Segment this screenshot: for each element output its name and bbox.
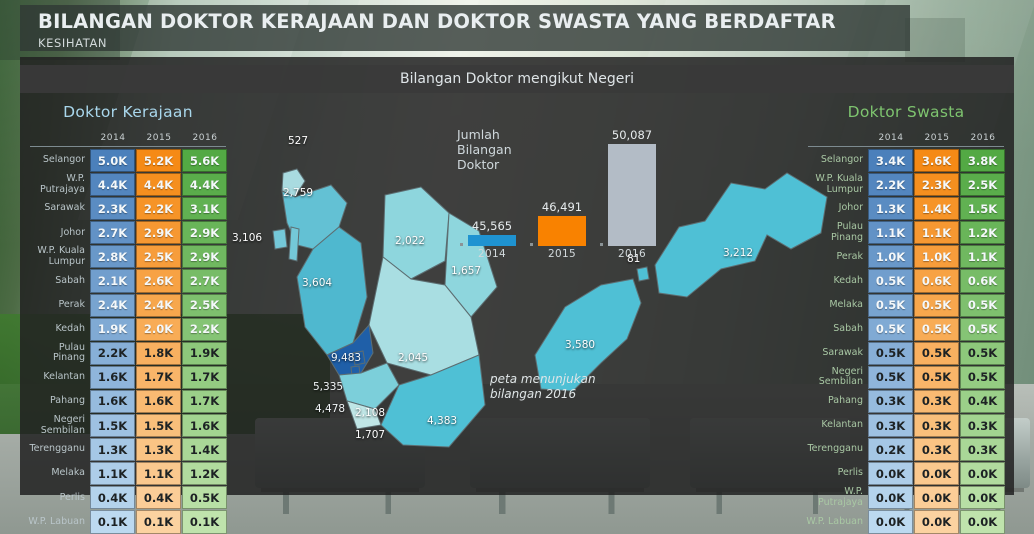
row-state-label: Kelantan	[28, 366, 90, 389]
table-row[interactable]: Melaka1.1K1.1K1.2K	[28, 462, 228, 485]
table-row[interactable]: Pahang1.6K1.6K1.7K	[28, 390, 228, 413]
table-row[interactable]: Perlis0.4K0.4K0.5K	[28, 486, 228, 509]
row-state-label: Perlis	[28, 486, 90, 509]
map-label-sabah: 3,212	[723, 247, 753, 259]
cell-2016[interactable]: 0.0K	[960, 486, 1005, 509]
map-label-perlis: 527	[288, 135, 308, 147]
map-label-wp-putrajaya: 4,478	[315, 403, 345, 415]
cell-2014[interactable]: 0.2K	[868, 438, 913, 461]
cell-2014[interactable]: 5.0K	[90, 149, 135, 172]
cell-2015[interactable]: 1.6K	[136, 390, 181, 413]
cell-2016[interactable]: 4.4K	[182, 173, 227, 196]
header-band: BILANGAN DOKTOR KERAJAAN DAN DOKTOR SWAS…	[20, 5, 910, 51]
cell-2016[interactable]: 2.9K	[182, 221, 227, 244]
map-region-pulau-pinang-strip	[289, 227, 299, 261]
cell-2014[interactable]: 0.5K	[868, 318, 913, 341]
map-label-negeri-sembilan: 2,108	[355, 407, 385, 419]
table-doktor-kerajaan: Doktor Kerajaan 2014 2015 2016 Selangor5…	[28, 103, 228, 534]
map-note: peta menunjukanbilangan 2016	[490, 372, 596, 402]
cell-2015[interactable]: 5.2K	[136, 149, 181, 172]
cell-2016[interactable]: 0.5K	[960, 294, 1005, 317]
cell-2014[interactable]: 2.2K	[90, 342, 135, 365]
bar-2014[interactable]: 45,565	[468, 235, 516, 246]
cell-2015[interactable]: 0.5K	[914, 318, 959, 341]
axis-tick-0	[460, 243, 463, 246]
dashboard-panel: Bilangan Doktor mengikut Negeri Doktor K…	[20, 57, 1014, 495]
cell-2015[interactable]: 2.0K	[136, 318, 181, 341]
table-row[interactable]: Terengganu1.3K1.3K1.4K	[28, 438, 228, 461]
row-state-label: Pulau Pinang	[28, 342, 90, 365]
cell-2016[interactable]: 1.7K	[182, 366, 227, 389]
cell-2016[interactable]: 0.6K	[960, 269, 1005, 292]
cell-2015[interactable]: 0.0K	[914, 462, 959, 485]
cell-2014[interactable]: 2.4K	[90, 294, 135, 317]
row-state-label: Johor	[28, 221, 90, 244]
panel-title: Bilangan Doktor mengikut Negeri	[400, 71, 634, 87]
bar-year-2015: 2015	[538, 248, 586, 260]
axis-tick-1	[530, 243, 533, 246]
cell-2014[interactable]: 2.3K	[90, 197, 135, 220]
table-right-heading: Doktor Swasta	[806, 103, 1006, 121]
map-region-sabah	[655, 173, 827, 297]
cell-2015[interactable]: 0.1K	[136, 510, 181, 533]
axis-tick-2	[600, 243, 603, 246]
row-state-label: W.P. Putrajaya	[806, 486, 868, 509]
cell-2016[interactable]: 1.1K	[960, 245, 1005, 268]
cell-2014[interactable]: 2.8K	[90, 245, 135, 268]
cell-2016[interactable]: 0.5K	[960, 366, 1005, 389]
cell-2014[interactable]: 0.5K	[868, 294, 913, 317]
cell-2015[interactable]: 0.5K	[914, 342, 959, 365]
cell-2015[interactable]: 0.5K	[914, 294, 959, 317]
cell-2015[interactable]: 1.5K	[136, 414, 181, 437]
bar-2015[interactable]: 46,491	[538, 216, 586, 246]
row-state-label: Melaka	[28, 462, 90, 485]
row-state-label: Terengganu	[28, 438, 90, 461]
table-left-year-header: 2014 2015 2016	[28, 133, 228, 146]
cell-2014[interactable]: 1.5K	[90, 414, 135, 437]
cell-2014[interactable]: 0.5K	[868, 366, 913, 389]
map-label-selangor: 9,483	[331, 352, 361, 364]
cell-2014[interactable]: 1.9K	[90, 318, 135, 341]
map-label-pahang: 2,045	[398, 352, 428, 364]
cell-2014[interactable]: 3.4K	[868, 149, 913, 172]
map-label-wp-kuala-lumpur: 5,335	[313, 381, 343, 393]
cell-2016[interactable]: 0.5K	[960, 342, 1005, 365]
table-row[interactable]: Pulau Pinang2.2K1.8K1.9K	[28, 342, 228, 365]
cell-2015[interactable]: 1.8K	[136, 342, 181, 365]
cell-2016[interactable]: 2.5K	[960, 173, 1005, 196]
row-state-label: W.P. Putrajaya	[28, 173, 90, 196]
table-left-rule	[30, 146, 226, 147]
cell-2016[interactable]: 0.3K	[960, 414, 1005, 437]
cell-2014[interactable]: 4.4K	[90, 173, 135, 196]
map-label-johor: 4,383	[427, 415, 457, 427]
map-note-line: peta menunjukan	[490, 372, 596, 387]
row-state-label: Sarawak	[28, 197, 90, 220]
cell-2016[interactable]: 1.9K	[182, 342, 227, 365]
cell-2016[interactable]: 0.0K	[960, 462, 1005, 485]
cell-2015[interactable]: 2.6K	[136, 269, 181, 292]
cell-2015[interactable]: 1.7K	[136, 366, 181, 389]
bar-2016[interactable]: 50,087	[608, 144, 656, 246]
table-row[interactable]: Selangor5.0K5.2K5.6K	[28, 149, 228, 172]
cell-2015[interactable]: 0.3K	[914, 414, 959, 437]
cell-2016[interactable]: 1.5K	[960, 197, 1005, 220]
cell-2016[interactable]: 2.9K	[182, 245, 227, 268]
cell-2014[interactable]: 0.1K	[90, 510, 135, 533]
cell-2015[interactable]: 0.4K	[136, 486, 181, 509]
row-state-label: Selangor	[28, 149, 90, 172]
cell-2014[interactable]: 1.3K	[90, 438, 135, 461]
map-label-melaka: 1,707	[355, 429, 385, 441]
cell-2014[interactable]: 2.7K	[90, 221, 135, 244]
cell-2014[interactable]: 1.6K	[90, 390, 135, 413]
map-note-line: bilangan 2016	[490, 387, 596, 402]
table-row[interactable]: Perak2.4K2.4K2.5K	[28, 294, 228, 317]
cell-2016[interactable]: 0.0K	[960, 510, 1005, 533]
map-label-terengganu: 1,657	[451, 265, 481, 277]
cell-2015[interactable]: 0.5K	[914, 366, 959, 389]
cell-2015[interactable]: 2.2K	[136, 197, 181, 220]
cell-2014[interactable]: 0.4K	[90, 486, 135, 509]
table-row[interactable]: Negeri Sembilan1.5K1.5K1.6K	[28, 414, 228, 437]
year-header-2015: 2015	[914, 133, 960, 146]
row-state-label: W.P. Labuan	[806, 510, 868, 533]
year-header-2014: 2014	[868, 133, 914, 146]
bar-year-2014: 2014	[468, 248, 516, 260]
table-row[interactable]: W.P. Putrajaya0.0K0.0K0.0K	[806, 486, 1006, 509]
jumlah-bilangan-doktor-chart: 45,565201446,491201550,0872016	[460, 125, 630, 260]
map-label-sarawak: 3,580	[565, 339, 595, 351]
row-state-label: Perak	[28, 294, 90, 317]
cell-2016[interactable]: 1.7K	[182, 390, 227, 413]
cell-2014[interactable]: 1.1K	[90, 462, 135, 485]
row-state-label: W.P. Kuala Lumpur	[28, 245, 90, 268]
table-row[interactable]: W.P. Putrajaya4.4K4.4K4.4K	[28, 173, 228, 196]
cell-2016[interactable]: 2.7K	[182, 269, 227, 292]
cell-2015[interactable]: 2.9K	[136, 221, 181, 244]
cell-2015[interactable]: 1.1K	[914, 221, 959, 244]
cell-2015[interactable]: 1.1K	[136, 462, 181, 485]
table-row[interactable]: Kelantan1.6K1.7K1.7K	[28, 366, 228, 389]
row-state-label: Pahang	[28, 390, 90, 413]
cell-2016[interactable]: 1.2K	[182, 462, 227, 485]
cell-2015[interactable]: 4.4K	[136, 173, 181, 196]
cell-2016[interactable]: 1.2K	[960, 221, 1005, 244]
table-row[interactable]: Sabah2.1K2.6K2.7K	[28, 269, 228, 292]
cell-2015[interactable]: 1.4K	[914, 197, 959, 220]
table-row[interactable]: Sarawak2.3K2.2K3.1K	[28, 197, 228, 220]
cell-2016[interactable]: 3.8K	[960, 149, 1005, 172]
cell-2016[interactable]: 2.2K	[182, 318, 227, 341]
cell-2015[interactable]: 0.6K	[914, 269, 959, 292]
year-header-2014: 2014	[90, 133, 136, 146]
row-state-label: W.P. Labuan	[28, 510, 90, 533]
table-row[interactable]: W.P. Labuan0.0K0.0K0.0K	[806, 510, 1006, 533]
bar-column-2016[interactable]: 50,0872016	[608, 144, 656, 260]
map-region-wp-labuan	[637, 267, 649, 281]
map-label-kedah: 2,759	[283, 187, 313, 199]
cell-2016[interactable]: 0.3K	[960, 438, 1005, 461]
page-subtitle: KESIHATAN	[38, 36, 910, 50]
cell-2015[interactable]: 0.3K	[914, 438, 959, 461]
map-label-perak: 3,604	[302, 277, 332, 289]
cell-2014[interactable]: 0.0K	[868, 510, 913, 533]
cell-2016[interactable]: 1.4K	[182, 438, 227, 461]
cell-2015[interactable]: 1.3K	[136, 438, 181, 461]
page-title: BILANGAN DOKTOR KERAJAAN DAN DOKTOR SWAS…	[38, 11, 910, 33]
panel-title-bar: Bilangan Doktor mengikut Negeri	[20, 65, 1014, 93]
year-header-2016: 2016	[182, 133, 228, 146]
bar-value-2016: 50,087	[612, 128, 652, 142]
table-left-heading: Doktor Kerajaan	[28, 103, 228, 121]
cell-2015[interactable]: 0.0K	[914, 510, 959, 533]
cell-2014[interactable]: 0.0K	[868, 462, 913, 485]
cell-2014[interactable]: 2.2K	[868, 173, 913, 196]
cell-2016[interactable]: 0.5K	[960, 318, 1005, 341]
table-right-year-header: 2014 2015 2016	[806, 133, 1006, 146]
cell-2014[interactable]: 1.1K	[868, 221, 913, 244]
table-row[interactable]: Johor2.7K2.9K2.9K	[28, 221, 228, 244]
cell-2015[interactable]: 2.4K	[136, 294, 181, 317]
cell-2014[interactable]: 0.0K	[868, 486, 913, 509]
cell-2014[interactable]: 2.1K	[90, 269, 135, 292]
year-header-2015: 2015	[136, 133, 182, 146]
bar-column-2015[interactable]: 46,4912015	[538, 216, 586, 260]
bar-value-2014: 45,565	[472, 219, 512, 233]
row-state-label: Kedah	[28, 318, 90, 341]
cell-2016[interactable]: 2.5K	[182, 294, 227, 317]
cell-2015[interactable]: 2.5K	[136, 245, 181, 268]
row-state-label: Sabah	[28, 269, 90, 292]
cell-2014[interactable]: 1.6K	[90, 366, 135, 389]
bar-value-2015: 46,491	[542, 200, 582, 214]
cell-2014[interactable]: 1.3K	[868, 197, 913, 220]
cell-2016[interactable]: 5.6K	[182, 149, 227, 172]
cell-2016[interactable]: 0.5K	[182, 486, 227, 509]
bar-year-2016: 2016	[608, 248, 656, 260]
map-label-pulau-pinang: 3,106	[232, 232, 262, 244]
bar-column-2014[interactable]: 45,5652014	[468, 235, 516, 260]
cell-2016[interactable]: 3.1K	[182, 197, 227, 220]
cell-2015[interactable]: 0.0K	[914, 486, 959, 509]
cell-2014[interactable]: 0.5K	[868, 269, 913, 292]
cell-2016[interactable]: 1.6K	[182, 414, 227, 437]
cell-2015[interactable]: 3.6K	[914, 149, 959, 172]
cell-2015[interactable]: 0.3K	[914, 390, 959, 413]
map-region-pulau-pinang	[273, 229, 287, 249]
cell-2015[interactable]: 2.3K	[914, 173, 959, 196]
cell-2016[interactable]: 0.4K	[960, 390, 1005, 413]
map-label-kelantan: 2,022	[395, 235, 425, 247]
year-header-2016: 2016	[960, 133, 1006, 146]
cell-2014[interactable]: 1.0K	[868, 245, 913, 268]
cell-2015[interactable]: 1.0K	[914, 245, 959, 268]
table-row[interactable]: W.P. Kuala Lumpur2.8K2.5K2.9K	[28, 245, 228, 268]
table-row[interactable]: Kedah1.9K2.0K2.2K	[28, 318, 228, 341]
cell-2014[interactable]: 0.5K	[868, 342, 913, 365]
cell-2014[interactable]: 0.3K	[868, 414, 913, 437]
table-right-rule	[808, 146, 1004, 147]
row-state-label: Negeri Sembilan	[28, 414, 90, 437]
cell-2016[interactable]: 0.1K	[182, 510, 227, 533]
table-row[interactable]: W.P. Labuan0.1K0.1K0.1K	[28, 510, 228, 533]
cell-2014[interactable]: 0.3K	[868, 390, 913, 413]
